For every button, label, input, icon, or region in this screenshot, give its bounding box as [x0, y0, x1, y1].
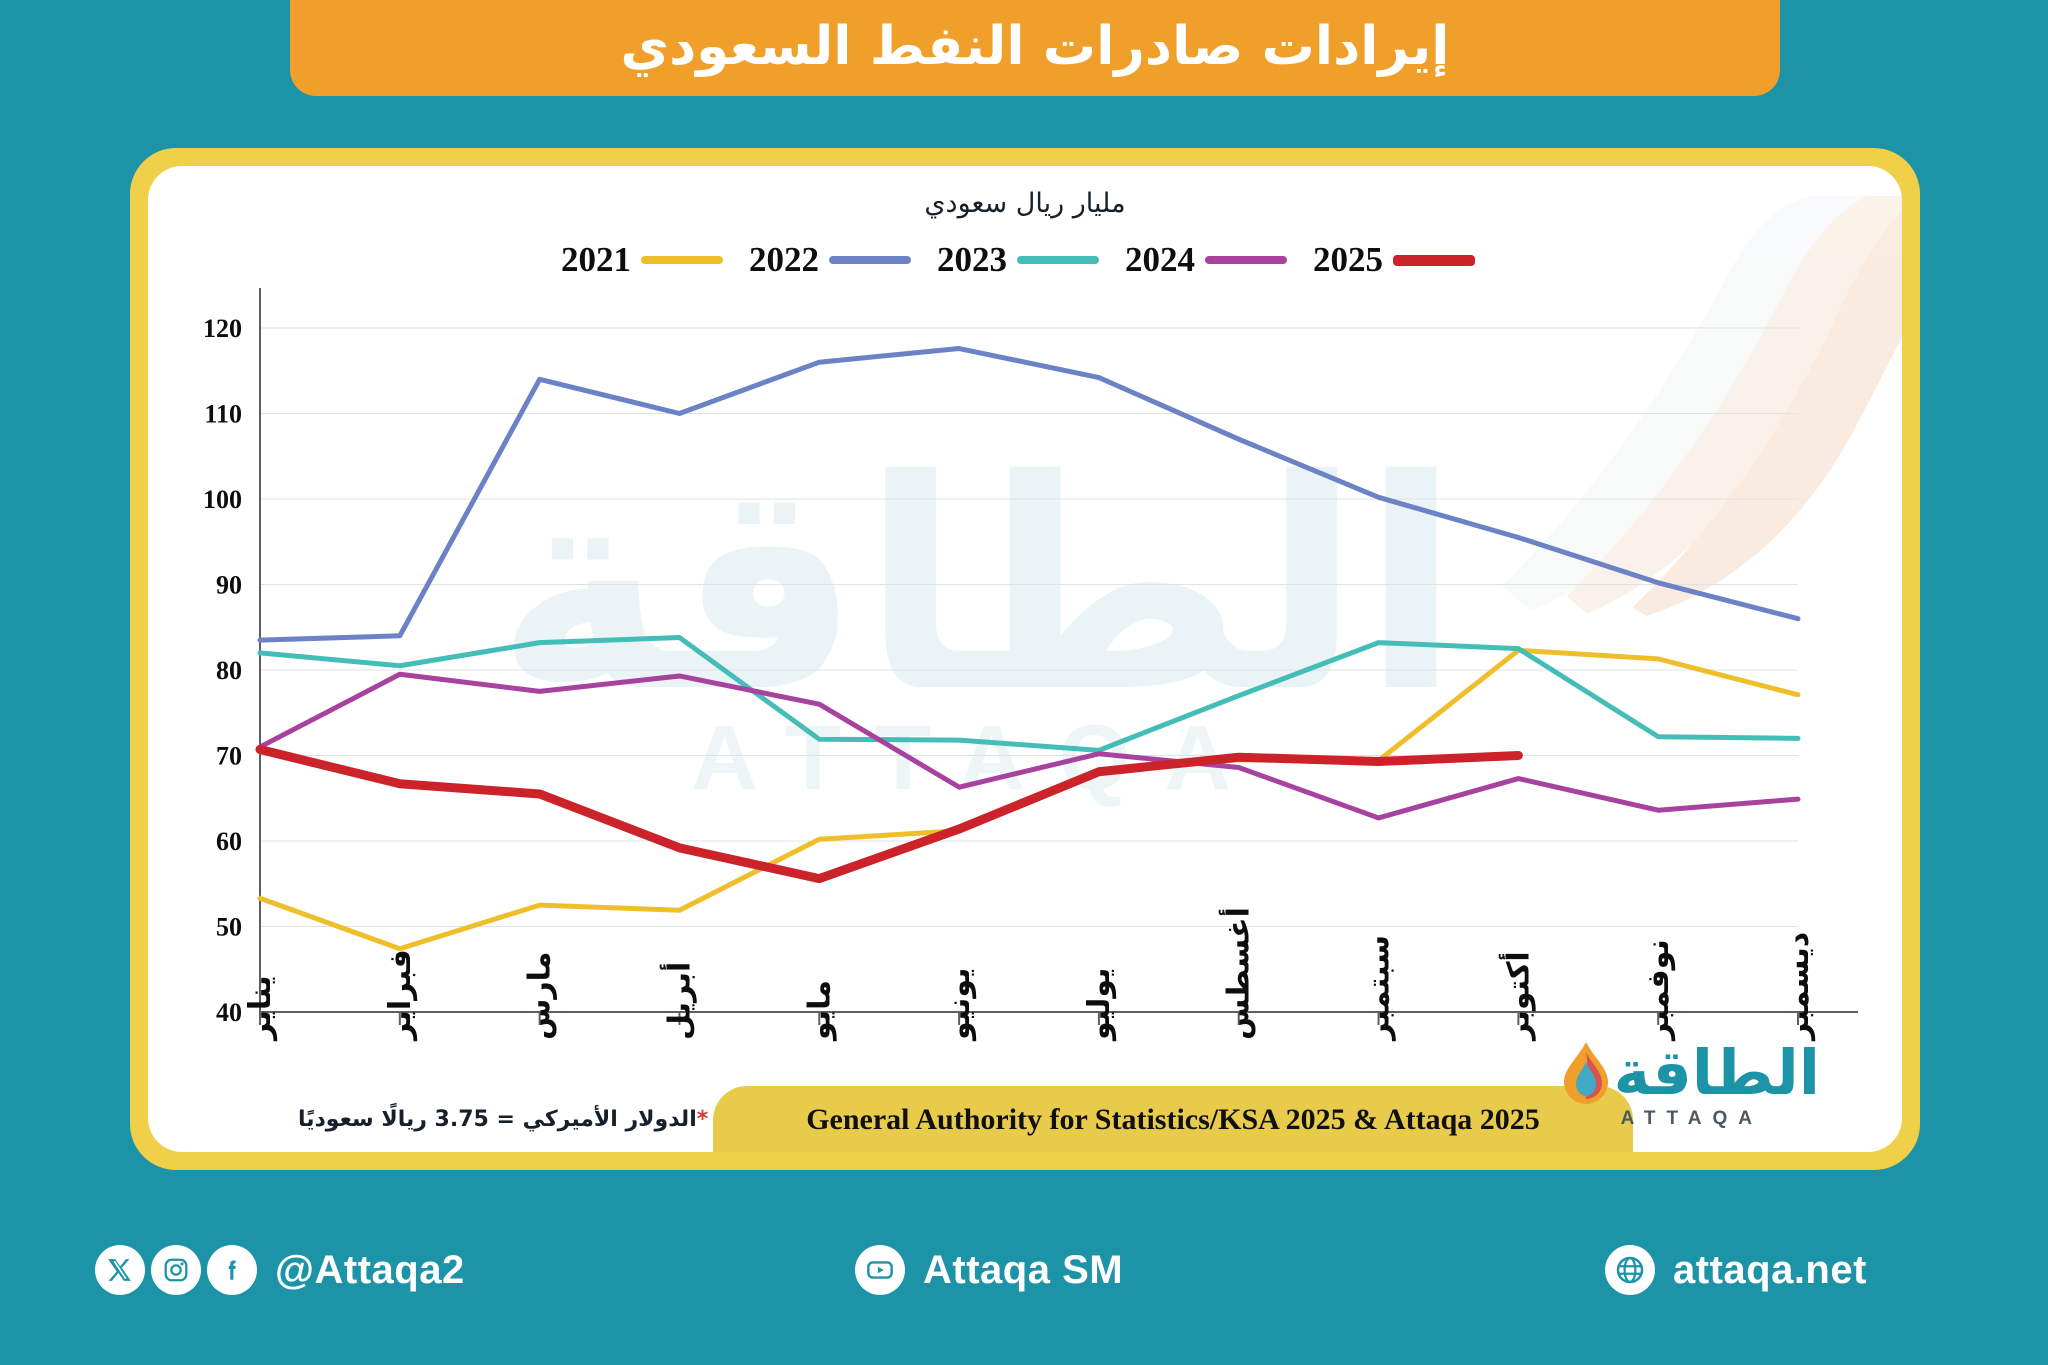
svg-text:يونيو: يونيو [942, 968, 977, 1042]
brand-logo: الطاقة ATTAQA [1564, 1042, 1820, 1130]
svg-text:يوليو: يوليو [1082, 968, 1117, 1042]
x-axis-tick-label: أغسطس [1219, 907, 1257, 1040]
svg-text:مايو: مايو [802, 980, 837, 1042]
social-handle[interactable]: @Attaqa2 [275, 1248, 465, 1293]
title-bar: إيرادات صادرات النفط السعودي [290, 0, 1780, 96]
x-axis-tick-label: فبراير [383, 949, 418, 1042]
website-group: attaqa.net [1605, 1245, 1867, 1295]
y-axis-tick: 40 [216, 998, 242, 1027]
svg-text:يناير: يناير [243, 975, 278, 1042]
x-axis-tick-label: يونيو [942, 968, 977, 1042]
social-bar: @Attaqa2 Attaqa SM attaqa.net [0, 1175, 2048, 1365]
x-axis-tick-label: سبتمبر [1362, 935, 1397, 1042]
line-chart: 405060708090100110120ينايرفبرايرمارسأبري… [148, 166, 1902, 1152]
svg-text:نوفمبر: نوفمبر [1641, 939, 1676, 1042]
x-axis-tick-label: نوفمبر [1641, 939, 1676, 1042]
y-axis-tick: 90 [216, 571, 242, 600]
svg-text:فبراير: فبراير [383, 949, 418, 1042]
social-handles-group: @Attaqa2 [95, 1245, 465, 1295]
chart-card-inner: الطاقة ATTAQA مليار ريال سعودي 2021 2022… [148, 166, 1902, 1152]
svg-text:ديسمبر: ديسمبر [1781, 932, 1816, 1042]
brand-latin: ATTAQA [1621, 1108, 1763, 1130]
facebook-icon[interactable] [207, 1245, 257, 1295]
footnote-text: الدولار الأميركي = 3.75 ريالًا سعوديًا [298, 1107, 697, 1132]
svg-text:أكتوبر: أكتوبر [1498, 951, 1536, 1042]
series-line-2025 [260, 750, 1518, 879]
x-axis-tick-label: يوليو [1082, 968, 1117, 1042]
svg-text:أبريل: أبريل [659, 962, 697, 1040]
website-handle[interactable]: attaqa.net [1673, 1248, 1867, 1293]
svg-text:أغسطس: أغسطس [1219, 907, 1257, 1040]
x-axis-tick-label: يناير [243, 975, 278, 1042]
x-twitter-icon[interactable] [95, 1245, 145, 1295]
youtube-icon[interactable] [855, 1245, 905, 1295]
youtube-group: Attaqa SM [855, 1245, 1123, 1295]
source-pill: General Authority for Statistics/KSA 202… [713, 1086, 1633, 1152]
globe-icon[interactable] [1605, 1245, 1655, 1295]
footnote: *الدولار الأميركي = 3.75 ريالًا سعوديًا [298, 1107, 708, 1132]
x-axis-tick-label: مايو [802, 980, 837, 1042]
y-axis-tick: 50 [216, 913, 242, 942]
y-axis-tick: 80 [216, 656, 242, 685]
y-axis-tick: 100 [203, 485, 242, 514]
plot-area: 405060708090100110120ينايرفبرايرمارسأبري… [148, 166, 1902, 1152]
x-axis-tick-label: ديسمبر [1781, 932, 1816, 1042]
flame-icon [1564, 1042, 1608, 1104]
y-axis-tick: 70 [216, 742, 242, 771]
y-axis-tick: 110 [204, 400, 242, 429]
source-text: General Authority for Statistics/KSA 202… [806, 1103, 1540, 1137]
x-axis-tick-label: أكتوبر [1498, 951, 1536, 1042]
brand-arabic: الطاقة [1614, 1042, 1820, 1104]
instagram-icon[interactable] [151, 1245, 201, 1295]
series-line-2022 [260, 349, 1798, 641]
x-axis-tick-label: أبريل [659, 962, 697, 1040]
svg-text:سبتمبر: سبتمبر [1362, 935, 1397, 1042]
svg-text:مارس: مارس [523, 951, 558, 1040]
y-axis-tick: 120 [203, 314, 242, 343]
x-axis-tick-label: مارس [523, 951, 558, 1040]
youtube-handle[interactable]: Attaqa SM [923, 1248, 1123, 1293]
page-title: إيرادات صادرات النفط السعودي [621, 20, 1450, 73]
footnote-asterisk: * [697, 1107, 709, 1132]
chart-card: الطاقة ATTAQA مليار ريال سعودي 2021 2022… [130, 148, 1920, 1170]
y-axis-tick: 60 [216, 827, 242, 856]
